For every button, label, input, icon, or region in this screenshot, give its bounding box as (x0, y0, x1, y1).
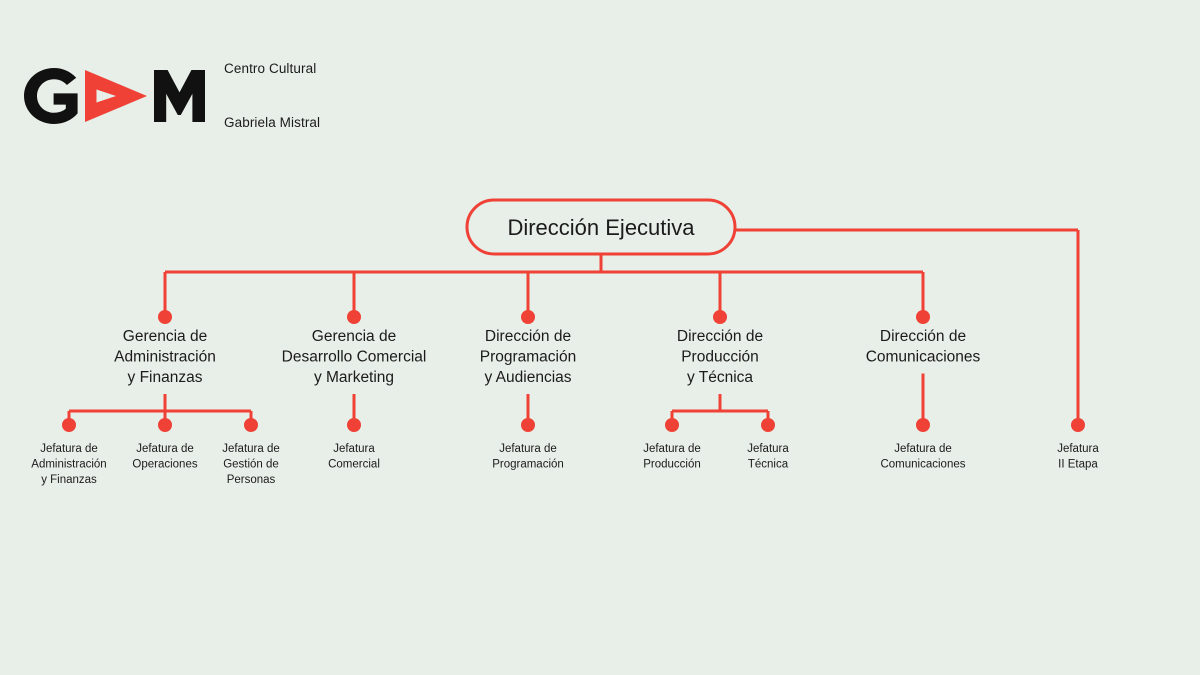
label-line: Jefatura de (40, 443, 98, 455)
label-line: Comunicaciones (880, 459, 965, 471)
leaf-node-label: Jefatura deAdministracióny Finanzas (31, 443, 106, 486)
label-line: Jefatura de (643, 443, 701, 455)
label-line: Administración (31, 459, 106, 471)
leaf-node-dot[interactable] (62, 418, 76, 432)
label-line: Jefatura de (136, 443, 194, 455)
leaf-node-label: Jefatura deGestión dePersonas (222, 443, 280, 486)
leaf-node-label: JefaturaTécnica (747, 443, 789, 471)
label-line: y Finanzas (128, 369, 203, 386)
leaf-node-dot[interactable] (158, 418, 172, 432)
label-line: Dirección de (677, 328, 763, 345)
root-node-label: Dirección Ejecutiva (507, 215, 695, 240)
leaf-node-dot[interactable] (347, 418, 361, 432)
label-line: Jefatura de (222, 443, 280, 455)
root-node[interactable]: Dirección Ejecutiva (467, 200, 735, 254)
leaf-node-label: Jefatura deProgramación (492, 443, 564, 471)
label-line: Operaciones (132, 459, 197, 471)
direct-report-node-label: JefaturaII Etapa (1057, 443, 1099, 471)
label-line: Comercial (328, 459, 380, 471)
leaf-node-dot[interactable] (761, 418, 775, 432)
label-line: Producción (643, 459, 701, 471)
leaf-node-label: JefaturaComercial (328, 443, 380, 471)
direct-report-node-dot[interactable] (1071, 418, 1085, 432)
org-chart: Dirección Ejecutiva Gerencia deAdministr… (0, 0, 1200, 675)
leaf-node-dot[interactable] (521, 418, 535, 432)
label-line: Desarrollo Comercial (282, 349, 427, 366)
branch-node-label: Dirección deComunicaciones (866, 328, 981, 366)
branch-node-dot[interactable] (521, 310, 535, 324)
leaf-node-label: Jefatura deComunicaciones (880, 443, 965, 471)
label-line: Jefatura de (499, 443, 557, 455)
leaf-node-dot[interactable] (916, 418, 930, 432)
label-line: Gestión de (223, 459, 279, 471)
label-line: Dirección de (880, 328, 966, 345)
label-line: Jefatura (747, 443, 789, 455)
label-line: Programación (480, 349, 577, 366)
label-line: Programación (492, 459, 564, 471)
leaf-node-dot[interactable] (665, 418, 679, 432)
label-line: y Audiencias (484, 369, 571, 386)
label-line: Producción (681, 349, 759, 366)
branch-node-label: Dirección deProgramacióny Audiencias (480, 328, 577, 386)
branch-node-label: Gerencia deAdministracióny Finanzas (114, 328, 216, 386)
label-line: Jefatura de (894, 443, 952, 455)
branch-node-dot[interactable] (916, 310, 930, 324)
label-line: y Técnica (687, 369, 753, 386)
label-line: Comunicaciones (866, 349, 981, 366)
label-line: Gerencia de (312, 328, 396, 345)
leaf-node-label: Jefatura deProducción (643, 443, 701, 471)
branch-node-label: Gerencia deDesarrollo Comercialy Marketi… (282, 328, 427, 386)
label-line: Jefatura (1057, 443, 1099, 455)
leaf-node-dot[interactable] (244, 418, 258, 432)
label-line: Administración (114, 349, 216, 366)
branch-node-label: Dirección deProduccióny Técnica (677, 328, 763, 386)
org-chart-container: Dirección Ejecutiva Gerencia deAdministr… (0, 0, 1200, 675)
label-line: y Finanzas (41, 474, 97, 486)
label-line: Jefatura (333, 443, 375, 455)
label-line: II Etapa (1058, 459, 1098, 471)
label-line: Técnica (748, 459, 789, 471)
leaf-node-label: Jefatura deOperaciones (132, 443, 197, 471)
branch-node-dot[interactable] (347, 310, 361, 324)
label-line: y Marketing (314, 369, 394, 386)
label-line: Personas (227, 474, 276, 486)
branch-node-dot[interactable] (158, 310, 172, 324)
label-line: Dirección de (485, 328, 571, 345)
label-line: Gerencia de (123, 328, 207, 345)
branch-node-dot[interactable] (713, 310, 727, 324)
node-labels: Gerencia deAdministracióny FinanzasJefat… (31, 328, 1099, 486)
